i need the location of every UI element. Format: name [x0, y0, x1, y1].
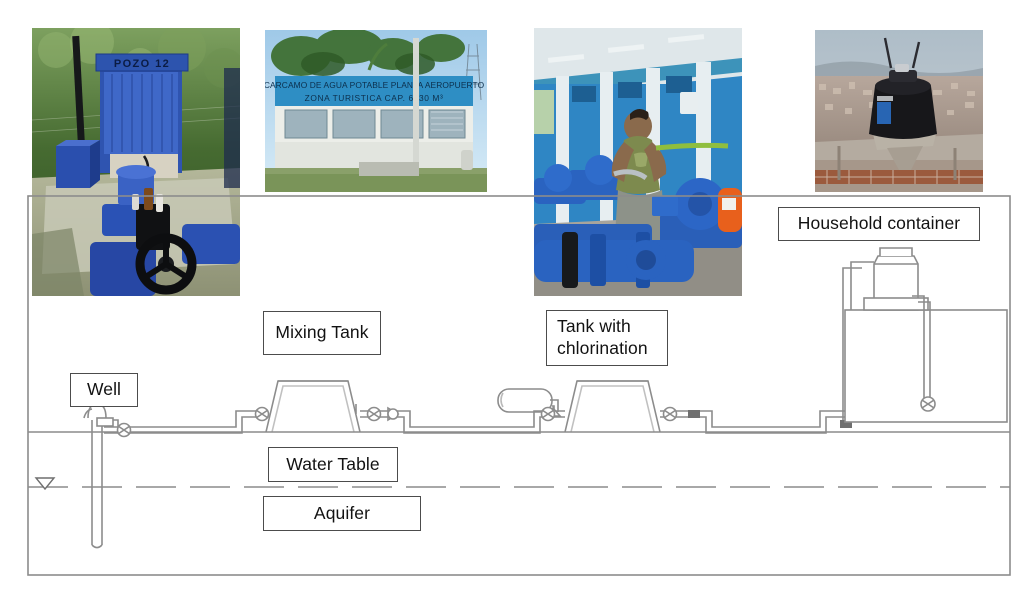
- water-table-symbol: [36, 478, 54, 489]
- label-aquifer[interactable]: Aquifer: [263, 496, 421, 531]
- rooftop-tank-photo-graphic: [815, 30, 983, 192]
- pipe-mixing-tank-outlet: [360, 411, 500, 433]
- household-roof-tank: [864, 248, 928, 310]
- household-tap-line: [912, 296, 935, 411]
- pump-house-photo-graphic: [534, 28, 742, 296]
- valve-mixing-tank-outlet: [368, 408, 381, 421]
- well-assembly: [84, 404, 118, 548]
- label-household-container[interactable]: Household container: [778, 207, 980, 241]
- svg-text:CARCAMO DE AGUA POTABLE PLANTA: CARCAMO DE AGUA POTABLE PLANTA AEROPUERT…: [265, 80, 485, 90]
- valve-chlorination-outlet: [664, 408, 677, 421]
- svg-text:ZONA TURISTICA CAP. 6630 M³: ZONA TURISTICA CAP. 6630 M³: [305, 93, 444, 103]
- mixing-tank: [266, 381, 360, 432]
- well-site-photo-graphic: POZO 12: [32, 28, 240, 296]
- storage-building-photo: CARCAMO DE AGUA POTABLE PLANTA AEROPUERT…: [265, 30, 487, 192]
- pump-house-photo: [534, 28, 742, 296]
- valve-chlorination-inlet: [542, 408, 555, 421]
- pipe-to-chlorination-tank: [500, 411, 565, 433]
- label-water-table[interactable]: Water Table: [268, 447, 398, 482]
- well-site-photo: POZO 12: [32, 28, 240, 296]
- chlorination-tank: [565, 381, 660, 432]
- storage-building-photo-graphic: CARCAMO DE AGUA POTABLE PLANTA AEROPUERT…: [265, 30, 487, 192]
- figure-canvas: POZO 12: [0, 0, 1031, 604]
- label-tank-with-chlorination[interactable]: Tank with chlorination: [546, 310, 668, 366]
- label-well[interactable]: Well: [70, 373, 138, 407]
- pipe-chlorination-to-house: [660, 411, 845, 433]
- chlorine-cylinder: [498, 389, 560, 416]
- pipe-well-to-mixing-tank: [104, 411, 260, 433]
- valve-well-outlet: [118, 424, 131, 437]
- rooftop-tank-photo: [815, 30, 983, 192]
- household-building: [845, 310, 1007, 422]
- label-mixing-tank[interactable]: Mixing Tank: [263, 311, 381, 355]
- flow-meter: [688, 410, 700, 418]
- household-riser-pipe: [840, 262, 874, 428]
- svg-text:POZO 12: POZO 12: [114, 58, 170, 70]
- valve-mixing-tank-inlet: [256, 408, 269, 421]
- valve-mixing-tank-check: [388, 408, 398, 420]
